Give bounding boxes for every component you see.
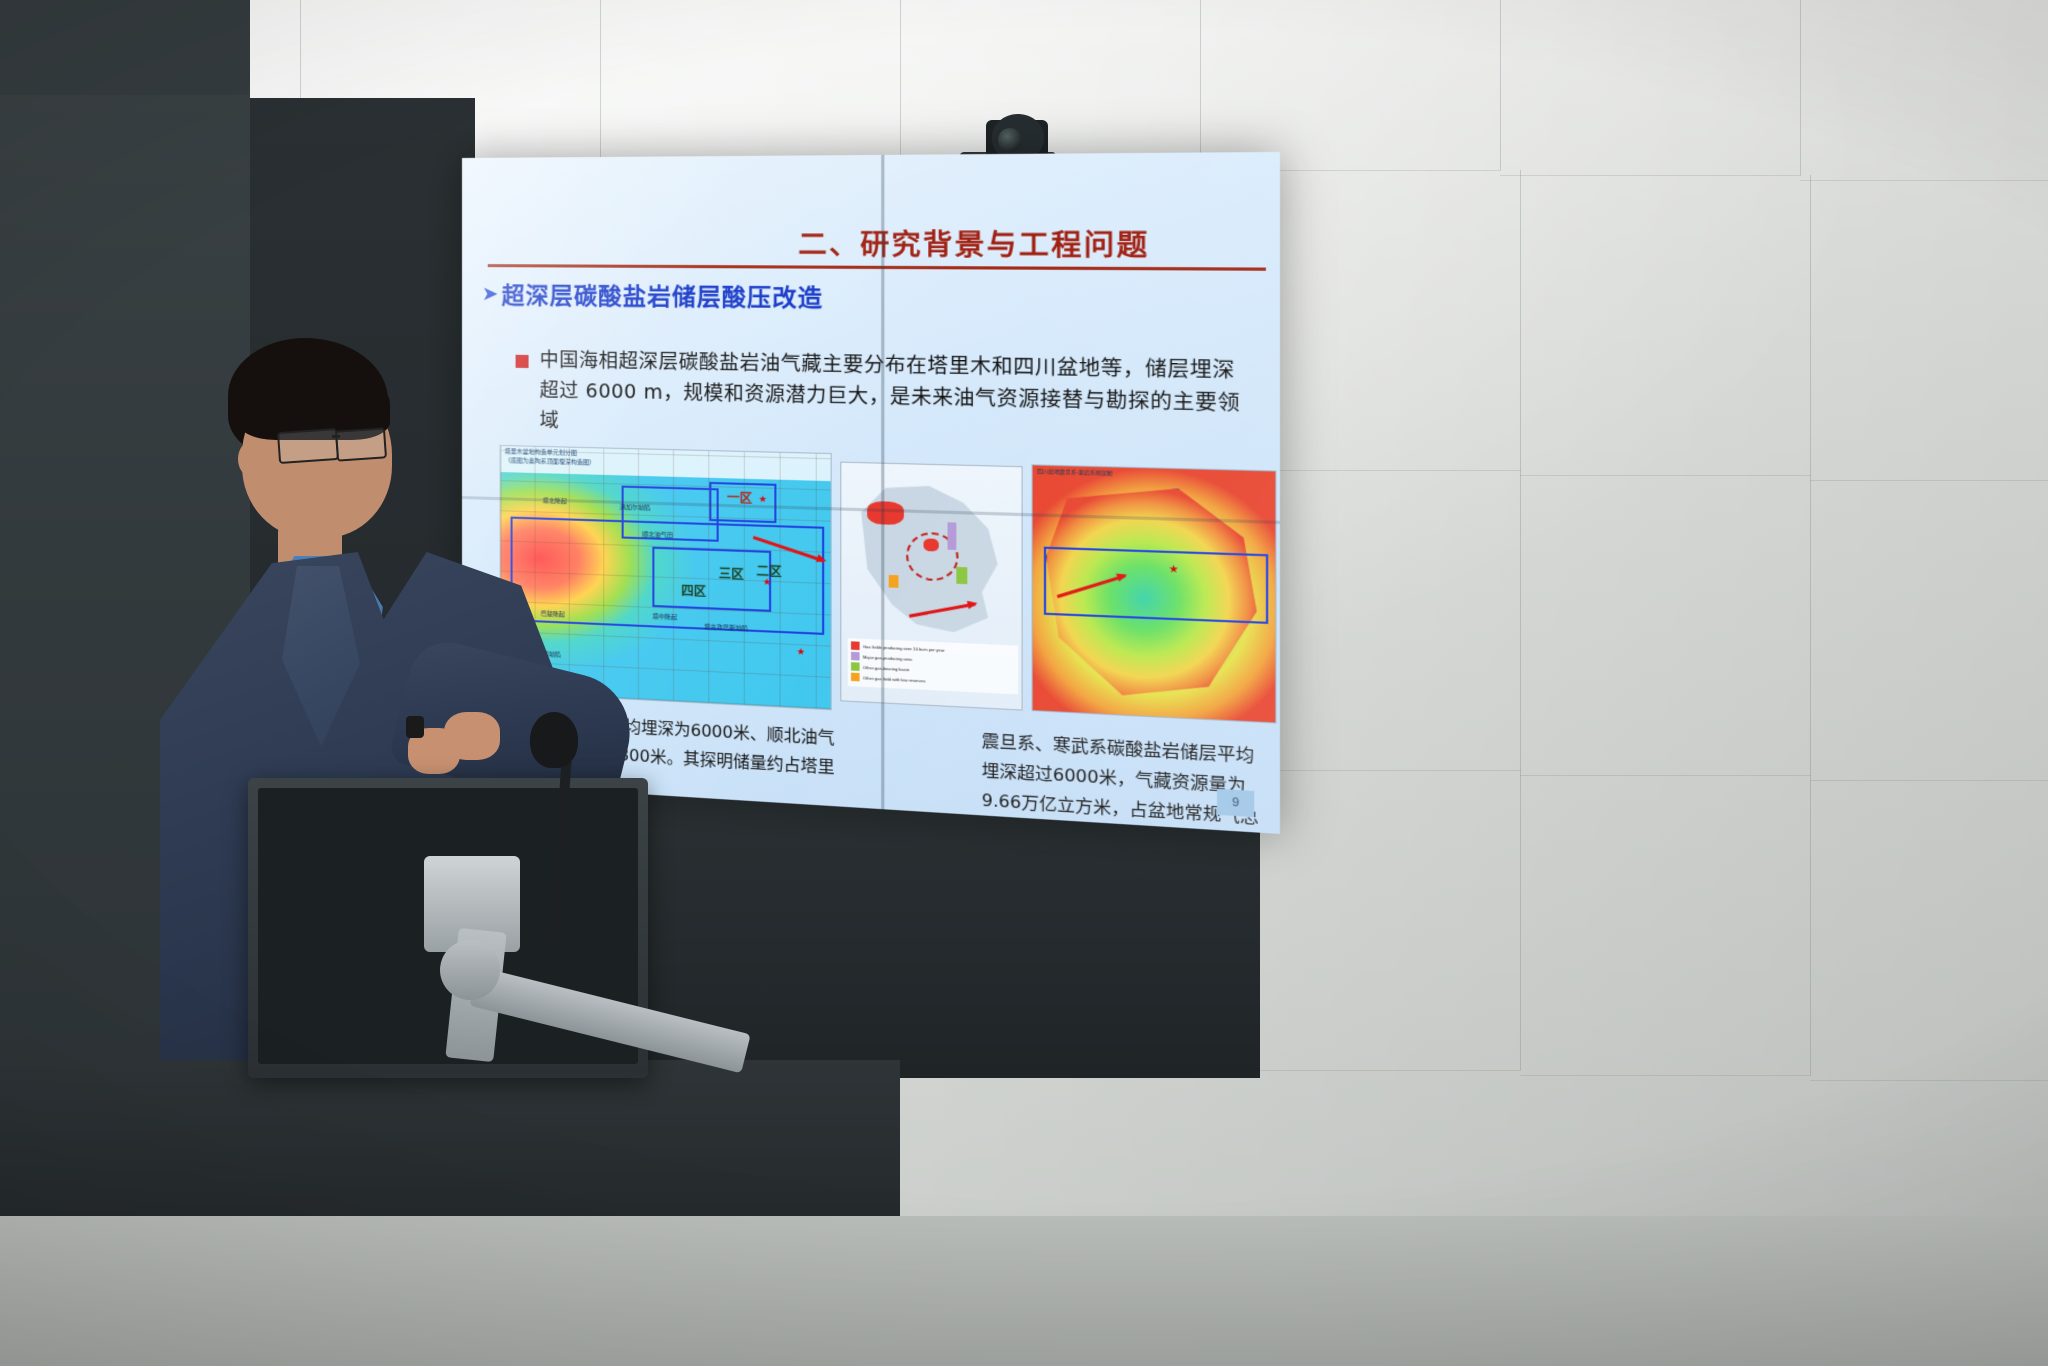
wall-tile — [1520, 475, 1811, 776]
wall-tile — [600, 0, 901, 161]
gooseneck-microphone — [530, 712, 578, 768]
conference-room-scene: 二、研究背景与工程问题 ➤ 超深层碳酸盐岩储层酸压改造 中国海相超深层碳酸盐岩油… — [0, 0, 2048, 1366]
legend-label: Other gas field with low reserves — [863, 675, 926, 683]
caption-right: 震旦系、寒武系碳酸盐岩储层平均埋深超过6000米，气藏资源量为9.66万亿立方米… — [982, 727, 1266, 834]
star-icon: ★ — [763, 576, 772, 588]
presenter-hand — [444, 712, 500, 760]
title-underline — [488, 264, 1266, 271]
glasses-bridge — [332, 435, 340, 438]
map-a-zone-label: 四区 — [681, 582, 706, 600]
videowall-seam — [881, 155, 884, 809]
eyeglasses — [277, 428, 339, 464]
wall-tile — [1800, 0, 2048, 181]
slide-page-number: 9 — [1217, 789, 1254, 817]
chevron-right-icon: ➤ — [482, 281, 499, 306]
legend-swatch — [851, 673, 860, 682]
basin-patch — [948, 522, 957, 550]
map-a-place-label: 塘古孜巴斯坳陷 — [704, 621, 748, 632]
wall-tile — [1520, 775, 1811, 1076]
wall-tile — [1810, 780, 2048, 1081]
wall-tile — [1810, 480, 2048, 781]
legend-label: Major gas-producing area — [863, 654, 912, 662]
map-a-region-box — [652, 547, 771, 612]
map-china-gas-fields: Gas fields producing over 10 bcm per yea… — [840, 462, 1022, 711]
legend-swatch — [851, 662, 860, 671]
basin-patch — [889, 575, 899, 588]
upper-dark-band — [0, 0, 250, 95]
slide-title: 二、研究背景与工程问题 — [693, 222, 1266, 264]
map-b-legend: Gas fields producing over 10 bcm per yea… — [848, 638, 1018, 694]
legend-label: Other gas-bearing basin — [863, 664, 909, 671]
monitor-arm-joint — [440, 940, 500, 1000]
wall-tile — [1520, 175, 1811, 476]
wall-tile — [1810, 180, 2048, 481]
wall-tile — [1200, 0, 1501, 171]
eyeglasses-right-lens — [335, 427, 387, 461]
camera-lens — [998, 128, 1022, 152]
map-a-zone-label: 三区 — [719, 564, 744, 582]
presenter-ear — [238, 442, 262, 476]
map-c-region-box — [1044, 547, 1268, 624]
tarim-highlight — [867, 501, 904, 525]
basin-patch — [956, 567, 967, 584]
slide-subheading: 超深层碳酸盐岩储层酸压改造 — [502, 276, 824, 313]
star-icon: ★ — [759, 494, 768, 506]
legend-swatch — [851, 641, 860, 650]
floor — [0, 1216, 2048, 1366]
star-icon: ★ — [1169, 564, 1179, 576]
star-icon: ★ — [797, 646, 806, 658]
wristwatch — [406, 716, 424, 738]
legend-label: Gas fields producing over 10 bcm per yea… — [863, 643, 945, 652]
legend-swatch — [851, 652, 860, 661]
wall-tile — [1500, 0, 1801, 176]
